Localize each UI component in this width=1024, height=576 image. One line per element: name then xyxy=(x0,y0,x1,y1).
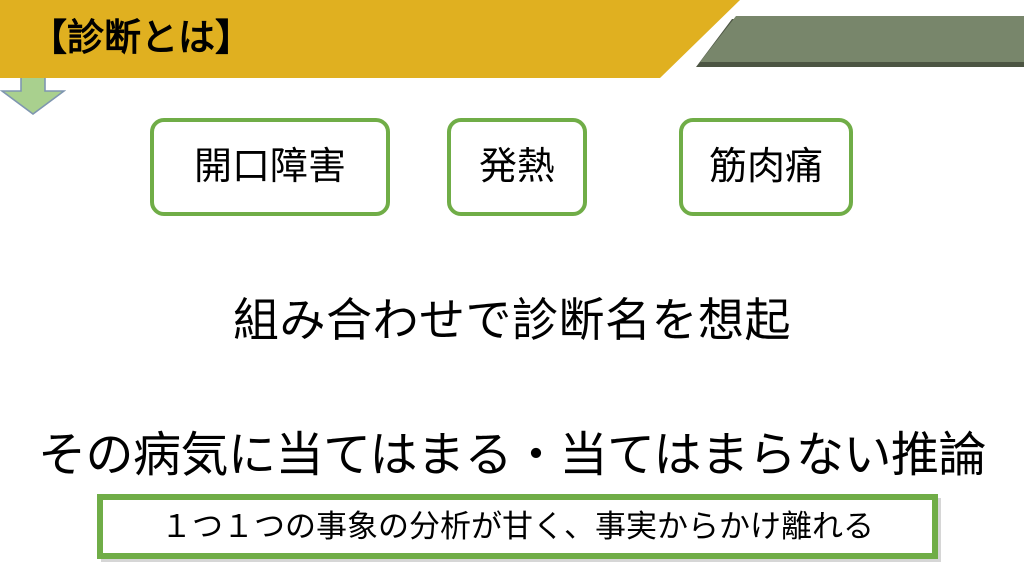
symptom-box-kinnikutsuu: 筋肉痛 xyxy=(679,118,853,216)
mid-text: 組み合わせで診断名を想起 xyxy=(0,292,1024,348)
callout-box: １つ１つの事象の分析が甘く、事実からかけ離れる xyxy=(97,494,938,559)
symptom-label: 開口障害 xyxy=(194,148,346,186)
symptom-box-kaikoushougai: 開口障害 xyxy=(150,118,390,216)
symptom-box-hatsunetsu: 発熱 xyxy=(447,118,587,216)
page-title: 【診断とは】 xyxy=(30,14,252,62)
header-ribbon xyxy=(700,16,1024,62)
callout-text: １つ１つの事象の分析が甘く、事実からかけ離れる xyxy=(161,507,874,547)
symptom-label: 発熱 xyxy=(479,148,555,186)
conclusion-text: その病気に当てはまる・当てはまらない推論 xyxy=(0,425,1024,487)
symptom-label: 筋肉痛 xyxy=(709,148,823,186)
